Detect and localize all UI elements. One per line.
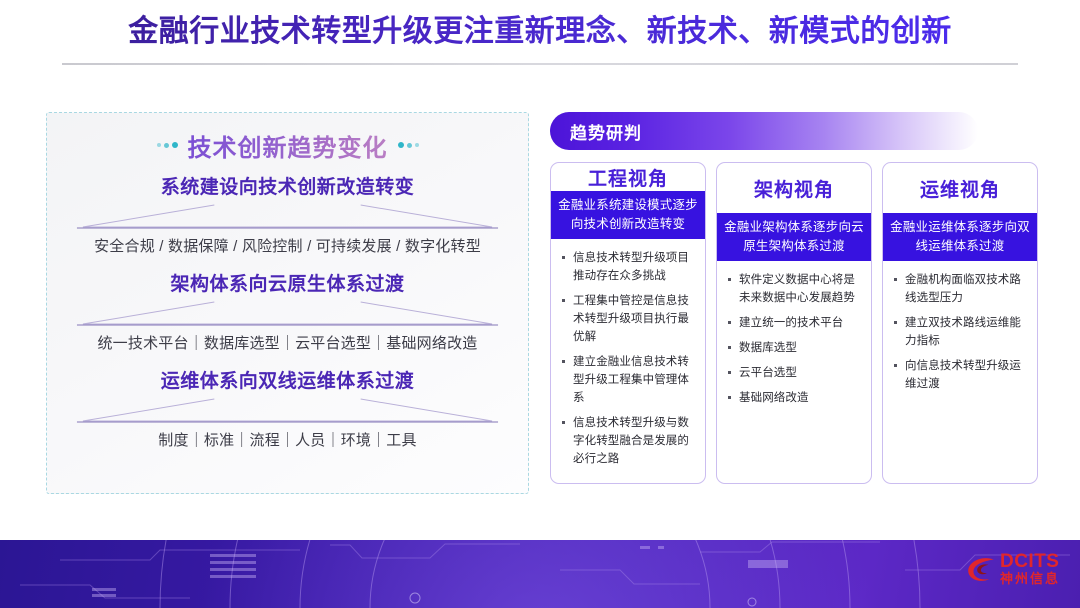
card-banner: 金融业运维体系逐步向双线运维体系过渡 — [883, 213, 1037, 261]
slide-root: 金融行业技术转型升级更注重新理念、新技术、新模式的创新 技术创新趋势变化 系统建… — [0, 0, 1080, 608]
card-body: 金融机构面临双技术路线选型压力 建立双技术路线运维能力指标 向信息技术转型升级运… — [883, 261, 1037, 483]
card-title: 架构视角 — [717, 163, 871, 213]
brand-name-cn: 神州信息 — [1000, 571, 1060, 586]
trend-group-items: 制度｜标准｜流程｜人员｜环境｜工具 — [65, 428, 510, 454]
slide-title-container: 金融行业技术转型升级更注重新理念、新技术、新模式的创新 — [0, 10, 1080, 54]
viewpoint-card[interactable]: 架构视角 金融业架构体系逐步向云原生架构体系过渡 软件定义数据中心将是未来数据中… — [716, 162, 872, 484]
viewpoint-card[interactable]: 工程视角 金融业系统建设模式逐步向技术创新改造转变 信息技术转型升级项目推动存在… — [550, 162, 706, 484]
trend-group: 运维体系向双线运维体系过渡 制度｜标准｜流程｜人员｜环境｜工具 — [65, 369, 510, 454]
trend-change-panel: 技术创新趋势变化 系统建设向技术创新改造转变 安全合规 / 数据保障 / 风险控… — [46, 112, 529, 494]
trend-judgement-panel: 趋势研判 工程视角 金融业系统建设模式逐步向技术创新改造转变 信息技术转型升级项… — [550, 112, 1040, 494]
circuit-pattern-icon — [0, 540, 1080, 608]
list-item: 基础网络改造 — [725, 389, 863, 407]
panel-heading-label: 技术创新趋势变化 — [188, 128, 388, 163]
list-item: 建立双技术路线运维能力指标 — [891, 314, 1029, 350]
card-title: 运维视角 — [883, 163, 1037, 213]
section-ribbon: 趋势研判 — [550, 112, 978, 150]
section-ribbon-label: 趋势研判 — [570, 119, 642, 144]
trend-group-title: 架构体系向云原生体系过渡 — [65, 272, 510, 298]
trend-group-title: 系统建设向技术创新改造转变 — [65, 175, 510, 201]
list-item: 云平台选型 — [725, 364, 863, 382]
dots-left-icon — [157, 142, 178, 148]
card-banner: 金融业系统建设模式逐步向技术创新改造转变 — [551, 191, 705, 239]
funnel-shape-icon — [65, 397, 510, 427]
trend-group-items: 统一技术平台｜数据库选型｜云平台选型｜基础网络改造 — [65, 331, 510, 357]
card-title: 工程视角 — [551, 163, 705, 191]
panel-heading: 技术创新趋势变化 — [65, 127, 510, 163]
swirl-logo-icon — [966, 555, 996, 585]
list-item: 金融机构面临双技术路线选型压力 — [891, 271, 1029, 307]
list-item: 数据库选型 — [725, 339, 863, 357]
dots-right-icon — [398, 142, 419, 148]
funnel-shape-icon — [65, 203, 510, 233]
list-item: 建立金融业信息技术转型升级工程集中管理体系 — [559, 353, 697, 407]
card-banner: 金融业架构体系逐步向云原生架构体系过渡 — [717, 213, 871, 261]
list-item: 信息技术转型升级与数字化转型融合是发展的必行之路 — [559, 414, 697, 468]
slide-footer: DCITS 神州信息 — [0, 540, 1080, 608]
trend-group: 系统建设向技术创新改造转变 安全合规 / 数据保障 / 风险控制 / 可持续发展… — [65, 175, 510, 260]
page-title: 金融行业技术转型升级更注重新理念、新技术、新模式的创新 — [128, 10, 952, 54]
brand-logo: DCITS 神州信息 — [966, 552, 1060, 587]
trend-group: 架构体系向云原生体系过渡 统一技术平台｜数据库选型｜云平台选型｜基础网络改造 — [65, 272, 510, 357]
viewpoint-card-list: 工程视角 金融业系统建设模式逐步向技术创新改造转变 信息技术转型升级项目推动存在… — [550, 162, 1040, 484]
list-item: 向信息技术转型升级运维过渡 — [891, 357, 1029, 393]
funnel-shape-icon — [65, 300, 510, 330]
list-item: 软件定义数据中心将是未来数据中心发展趋势 — [725, 271, 863, 307]
viewpoint-card[interactable]: 运维视角 金融业运维体系逐步向双线运维体系过渡 金融机构面临双技术路线选型压力 … — [882, 162, 1038, 484]
list-item: 信息技术转型升级项目推动存在众多挑战 — [559, 249, 697, 285]
card-body: 信息技术转型升级项目推动存在众多挑战 工程集中管控是信息技术转型升级项目执行最优… — [551, 239, 705, 483]
title-divider — [62, 63, 1018, 65]
list-item: 工程集中管控是信息技术转型升级项目执行最优解 — [559, 292, 697, 346]
trend-group-items: 安全合规 / 数据保障 / 风险控制 / 可持续发展 / 数字化转型 — [65, 234, 510, 260]
trend-group-title: 运维体系向双线运维体系过渡 — [65, 369, 510, 395]
list-item: 建立统一的技术平台 — [725, 314, 863, 332]
card-body: 软件定义数据中心将是未来数据中心发展趋势 建立统一的技术平台 数据库选型 云平台… — [717, 261, 871, 483]
brand-name-en: DCITS — [1000, 551, 1060, 572]
